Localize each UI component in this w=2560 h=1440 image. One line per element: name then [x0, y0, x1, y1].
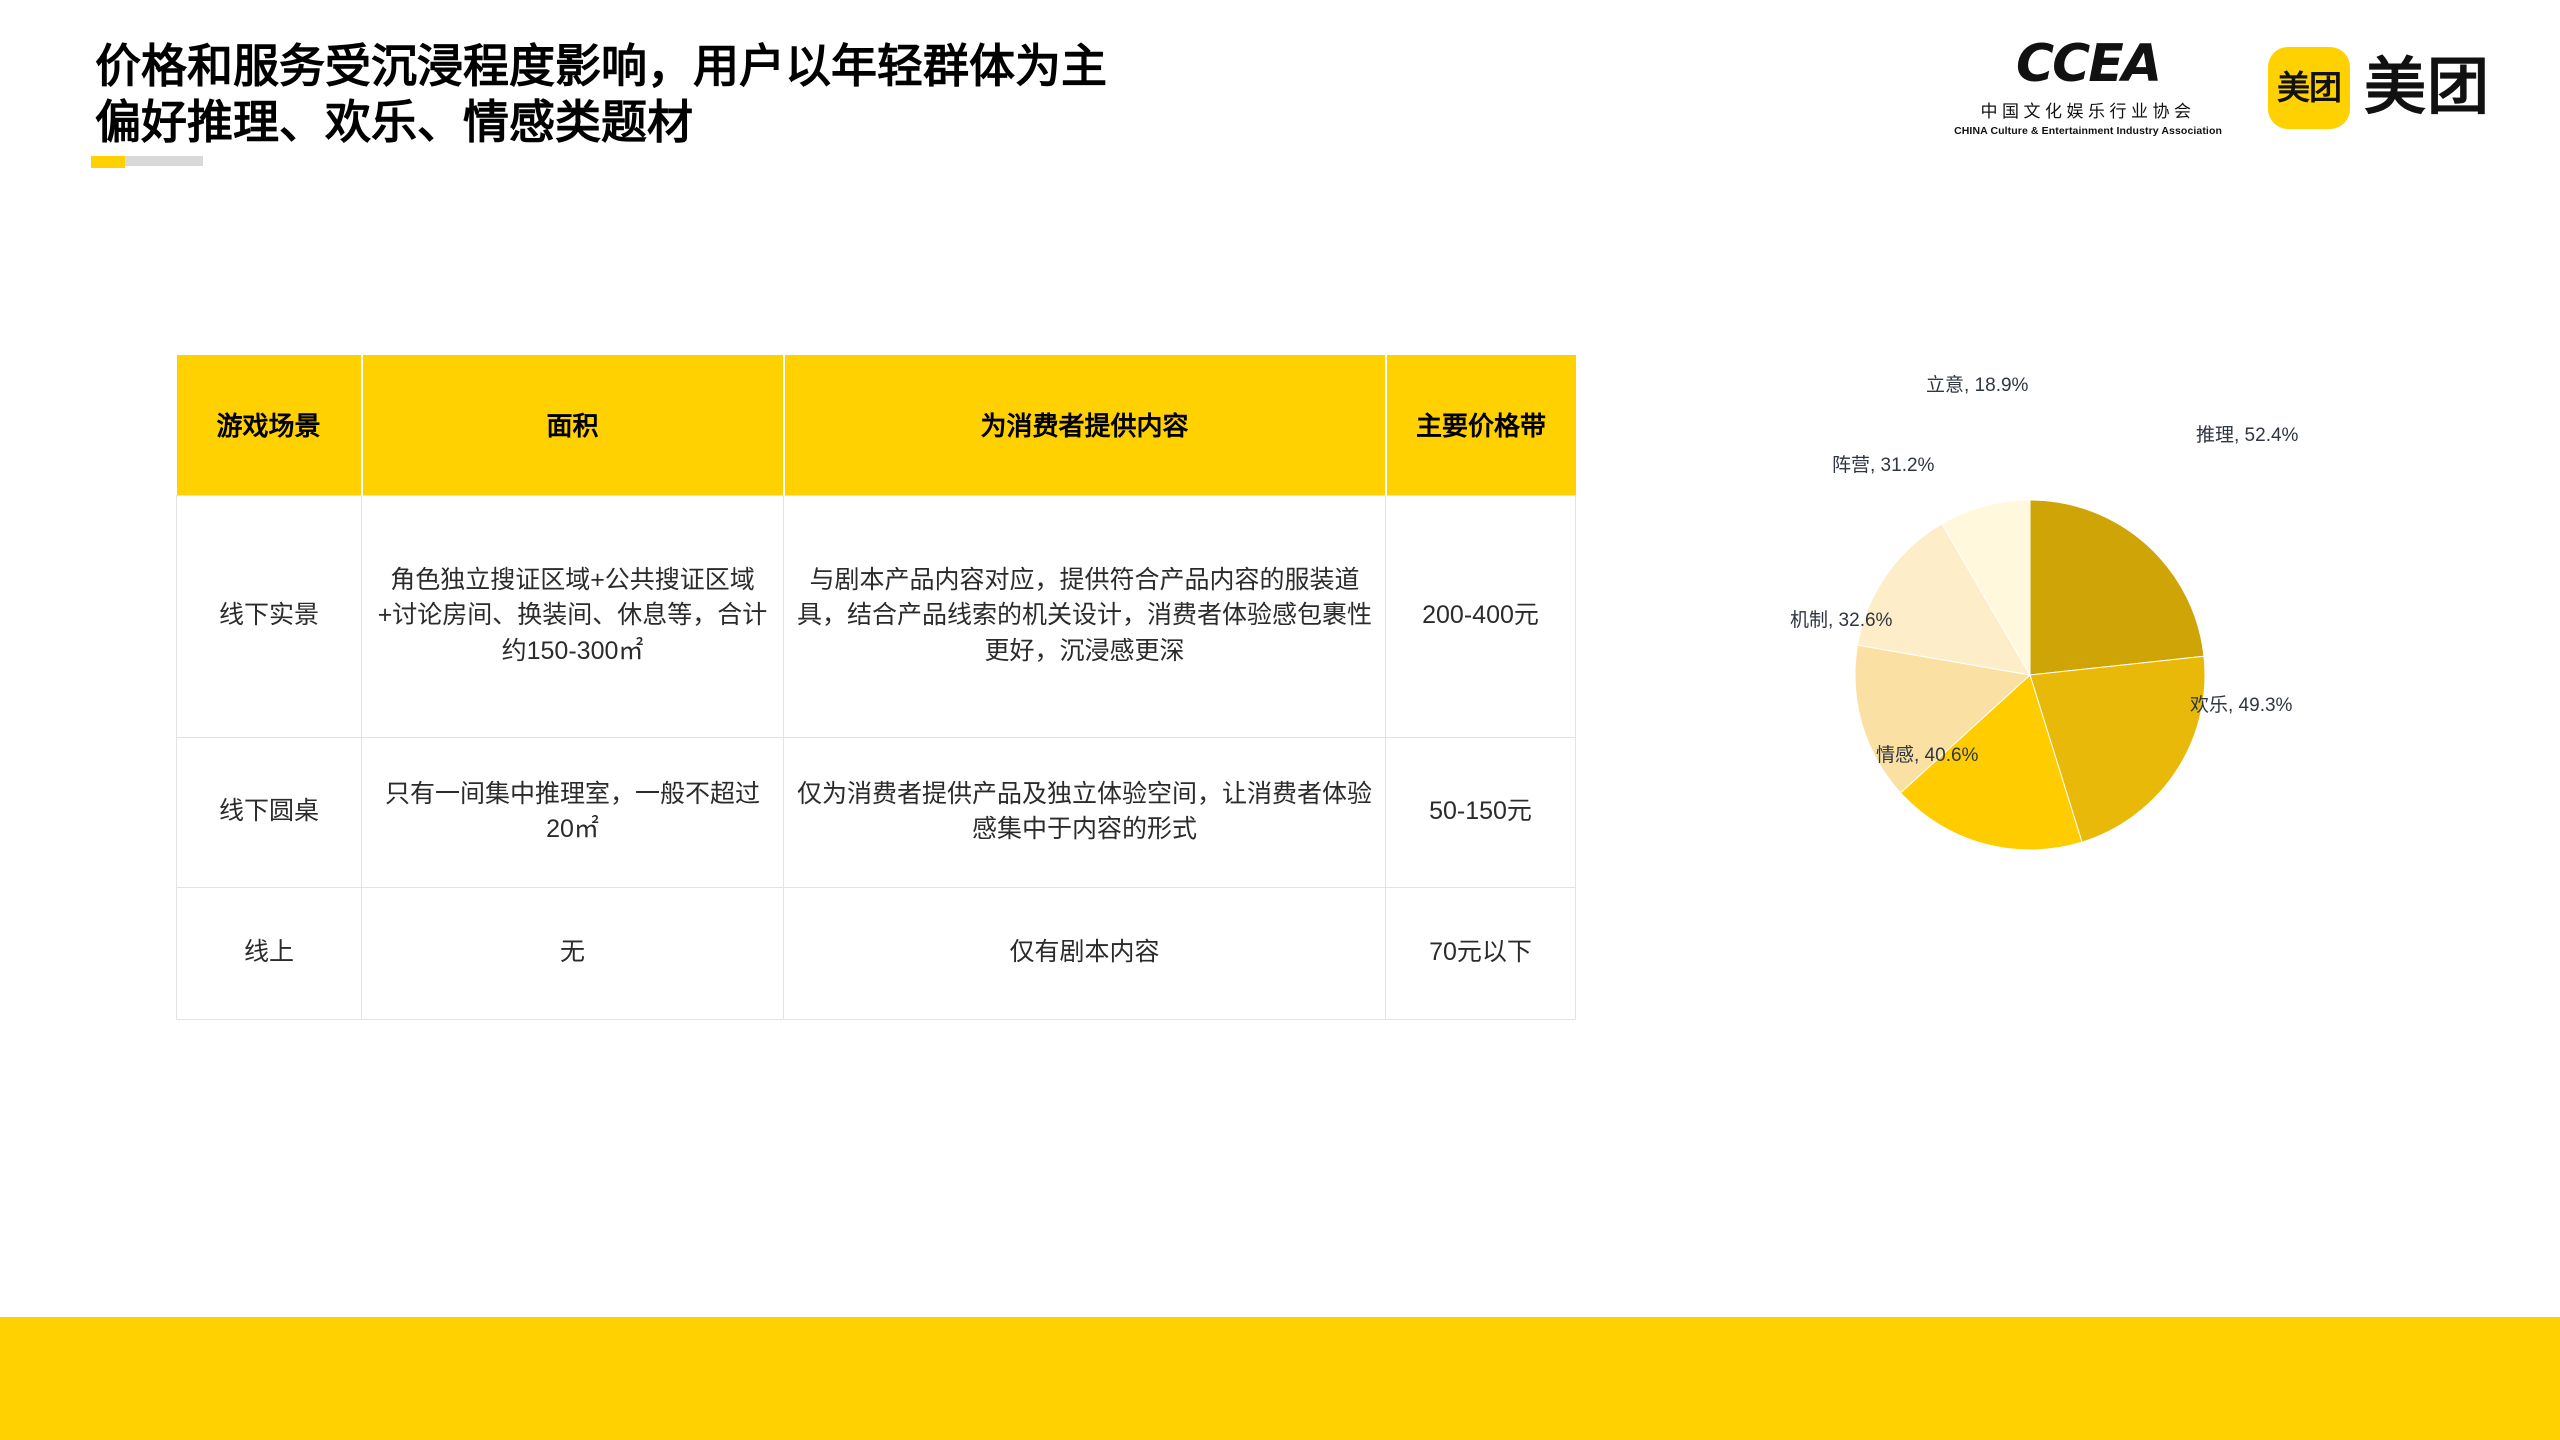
meituan-logo: 美团 美团: [2268, 47, 2490, 129]
title-accent-mark-gray: [125, 156, 203, 166]
pie-label-huanle: 欢乐, 49.3%: [2190, 690, 2292, 717]
ccea-wordmark: CCEA: [2016, 38, 2160, 90]
pie-label-liyi: 立意, 18.9%: [1926, 370, 2028, 397]
pie-slice-group: [1855, 500, 2205, 850]
cell-content: 仅有剧本内容: [784, 887, 1386, 1019]
cell-area: 只有一间集中推理室，一般不超过20㎡: [362, 737, 784, 887]
cell-price: 70元以下: [1386, 887, 1576, 1019]
cell-area: 无: [362, 887, 784, 1019]
ccea-english-name: CHINA Culture & Entertainment Industry A…: [1954, 125, 2222, 137]
table-header-price: 主要价格带: [1386, 355, 1576, 495]
table-row: 线下实景 角色独立搜证区域+公共搜证区域+讨论房间、换装间、休息等，合计约150…: [177, 495, 1576, 737]
title-accent-mark: [91, 156, 125, 168]
meituan-badge-icon: 美团: [2268, 47, 2350, 129]
pie-label-jizhi: 机制, 32.6%: [1790, 605, 1892, 632]
cell-content: 与剧本产品内容对应，提供符合产品内容的服装道具，结合产品线索的机关设计，消费者体…: [784, 495, 1386, 737]
table-header-row: 游戏场景 面积 为消费者提供内容 主要价格带: [177, 355, 1576, 495]
slide-canvas: 价格和服务受沉浸程度影响，用户以年轻群体为主 偏好推理、欢乐、情感类题材 CCE…: [0, 0, 2560, 1440]
game-scene-table: 游戏场景 面积 为消费者提供内容 主要价格带 线下实景 角色独立搜证区域+公共搜…: [176, 355, 1576, 1020]
ccea-logo: CCEA 中国文化娱乐行业协会 CHINA Culture & Entertai…: [1954, 38, 2222, 137]
pie-slice-推理: [2030, 500, 2204, 675]
table-row: 线下圆桌 只有一间集中推理室，一般不超过20㎡ 仅为消费者提供产品及独立体验空间…: [177, 737, 1576, 887]
cell-price: 50-150元: [1386, 737, 1576, 887]
title-line-2: 偏好推理、欢乐、情感类题材: [95, 94, 1695, 150]
meituan-wordmark: 美团: [2364, 57, 2490, 119]
table-header-scene: 游戏场景: [177, 355, 362, 495]
table-row: 线上 无 仅有剧本内容 70元以下: [177, 887, 1576, 1019]
cell-scene: 线下圆桌: [177, 737, 362, 887]
cell-area: 角色独立搜证区域+公共搜证区域+讨论房间、换装间、休息等，合计约150-300㎡: [362, 495, 784, 737]
logo-area: CCEA 中国文化娱乐行业协会 CHINA Culture & Entertai…: [1954, 38, 2490, 137]
footer-bar: [0, 1317, 2560, 1440]
cell-price: 200-400元: [1386, 495, 1576, 737]
pie-label-qinggan: 情感, 40.6%: [1876, 740, 1978, 767]
pie-label-tuili: 推理, 52.4%: [2196, 420, 2298, 447]
meituan-badge-label: 美团: [2277, 71, 2341, 104]
page-title: 价格和服务受沉浸程度影响，用户以年轻群体为主 偏好推理、欢乐、情感类题材: [95, 38, 1695, 150]
table-header-content: 为消费者提供内容: [784, 355, 1386, 495]
cell-scene: 线上: [177, 887, 362, 1019]
ccea-chinese-name: 中国文化娱乐行业协会: [1981, 97, 2196, 122]
cell-scene: 线下实景: [177, 495, 362, 737]
title-line-1: 价格和服务受沉浸程度影响，用户以年轻群体为主: [95, 38, 1695, 94]
theme-preference-pie-chart: 推理, 52.4% 欢乐, 49.3% 情感, 40.6% 机制, 32.6% …: [1700, 370, 2500, 930]
table-header-area: 面积: [362, 355, 784, 495]
pie-chart-svg: [1700, 370, 2500, 930]
pie-label-zhenying: 阵营, 31.2%: [1832, 450, 1934, 477]
cell-content: 仅为消费者提供产品及独立体验空间，让消费者体验感集中于内容的形式: [784, 737, 1386, 887]
